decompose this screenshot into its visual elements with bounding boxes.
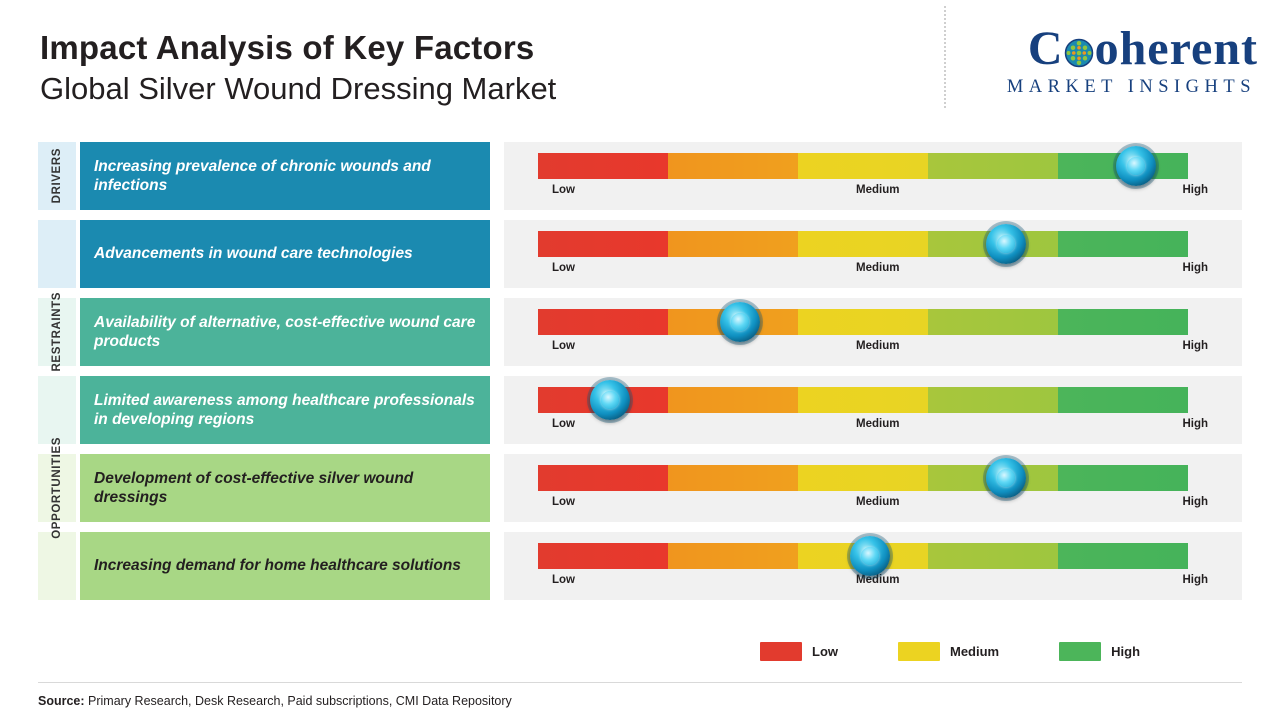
meter-bar <box>538 309 1188 335</box>
impact-meter: Low Medium High <box>504 454 1242 522</box>
scale-label-low: Low <box>552 262 575 274</box>
segment-medium-high <box>928 153 1058 179</box>
segment-low <box>538 231 668 257</box>
segment-low-medium <box>668 543 798 569</box>
scale-label-medium: Medium <box>856 184 899 196</box>
impact-marker[interactable] <box>986 458 1026 498</box>
table-row: OPPORTUNITIES Development of cost-effect… <box>38 454 1242 522</box>
legend-item-medium: Medium <box>898 642 999 661</box>
meter-scale: Low Medium High <box>526 262 1216 278</box>
category-restraints-2 <box>38 376 76 444</box>
logo-tagline: MARKET INSIGHTS <box>1007 77 1258 98</box>
segment-high <box>1058 543 1188 569</box>
legend-swatch-medium <box>898 642 940 661</box>
category-label: OPPORTUNITIES <box>51 437 63 539</box>
logo-name: oherent <box>1095 26 1258 72</box>
impact-marker[interactable] <box>720 302 760 342</box>
segment-low <box>538 153 668 179</box>
segment-high <box>1058 309 1188 335</box>
table-row: Advancements in wound care technologies … <box>38 220 1242 288</box>
segment-high <box>1058 231 1188 257</box>
company-logo: C oherent MARKET INSIG <box>1007 26 1258 98</box>
scale-label-high: High <box>1182 574 1208 586</box>
legend-swatch-low <box>760 642 802 661</box>
slide-root: Impact Analysis of Key Factors Global Si… <box>0 0 1280 720</box>
scale-label-medium: Medium <box>856 418 899 430</box>
impact-meter: Low Medium High <box>504 220 1242 288</box>
scale-label-low: Low <box>552 418 575 430</box>
impact-marker[interactable] <box>850 536 890 576</box>
meter-bar <box>538 387 1188 413</box>
scale-label-high: High <box>1182 340 1208 352</box>
source-label: Source: <box>38 694 85 708</box>
category-label: DRIVERS <box>51 148 63 203</box>
scale-label-medium: Medium <box>856 340 899 352</box>
legend: Low Medium High <box>760 642 1140 661</box>
source-note: Source: Primary Research, Desk Research,… <box>38 694 512 708</box>
scale-label-low: Low <box>552 340 575 352</box>
page-title: Impact Analysis of Key Factors Global Si… <box>40 28 556 108</box>
segment-high <box>1058 465 1188 491</box>
scale-label-high: High <box>1182 496 1208 508</box>
scale-label-high: High <box>1182 418 1208 430</box>
segment-low-medium <box>668 387 798 413</box>
footer-divider <box>38 682 1242 683</box>
legend-item-low: Low <box>760 642 838 661</box>
table-row: Increasing demand for home healthcare so… <box>38 532 1242 600</box>
segment-low <box>538 543 668 569</box>
segment-medium <box>798 231 928 257</box>
impact-rows: DRIVERS Increasing prevalence of chronic… <box>38 142 1242 610</box>
impact-meter: Low Medium High <box>504 376 1242 444</box>
segment-high <box>1058 387 1188 413</box>
title-main: Impact Analysis of Key Factors <box>40 28 556 68</box>
category-opportunities-2 <box>38 532 76 600</box>
legend-item-high: High <box>1059 642 1140 661</box>
scale-label-high: High <box>1182 262 1208 274</box>
category-restraints-1: RESTRAINTS <box>38 298 76 366</box>
factor-cell: Limited awareness among healthcare profe… <box>80 376 490 444</box>
scale-label-low: Low <box>552 496 575 508</box>
meter-bar <box>538 543 1188 569</box>
scale-label-medium: Medium <box>856 496 899 508</box>
factor-cell: Availability of alternative, cost-effect… <box>80 298 490 366</box>
factor-text: Development of cost-effective silver wou… <box>94 469 476 508</box>
category-drivers-2 <box>38 220 76 288</box>
legend-label-low: Low <box>812 644 838 659</box>
factor-text: Increasing prevalence of chronic wounds … <box>94 157 476 196</box>
globe-icon <box>1064 38 1094 68</box>
segment-medium <box>798 465 928 491</box>
factor-cell: Increasing prevalence of chronic wounds … <box>80 142 490 210</box>
segment-medium-high <box>928 387 1058 413</box>
category-opportunities-1: OPPORTUNITIES <box>38 454 76 522</box>
impact-marker[interactable] <box>1116 146 1156 186</box>
legend-swatch-high <box>1059 642 1101 661</box>
meter-scale: Low Medium High <box>526 574 1216 590</box>
segment-medium <box>798 153 928 179</box>
segment-low-medium <box>668 231 798 257</box>
factor-cell: Development of cost-effective silver wou… <box>80 454 490 522</box>
segment-low <box>538 309 668 335</box>
segment-medium-high <box>928 309 1058 335</box>
segment-low-medium <box>668 153 798 179</box>
segment-low <box>538 465 668 491</box>
logo-initial: C <box>1028 26 1063 72</box>
impact-marker[interactable] <box>590 380 630 420</box>
impact-marker[interactable] <box>986 224 1026 264</box>
source-text: Primary Research, Desk Research, Paid su… <box>88 694 512 708</box>
factor-cell: Increasing demand for home healthcare so… <box>80 532 490 600</box>
title-subtitle: Global Silver Wound Dressing Market <box>40 70 556 108</box>
segment-medium <box>798 387 928 413</box>
category-drivers-1: DRIVERS <box>38 142 76 210</box>
impact-meter: Low Medium High <box>504 298 1242 366</box>
scale-label-high: High <box>1182 184 1208 196</box>
logo-wordmark: C oherent <box>1007 26 1258 72</box>
meter-scale: Low Medium High <box>526 340 1216 356</box>
scale-label-medium: Medium <box>856 574 899 586</box>
scale-label-medium: Medium <box>856 262 899 274</box>
table-row: Limited awareness among healthcare profe… <box>38 376 1242 444</box>
factor-text: Advancements in wound care technologies <box>94 244 413 263</box>
scale-label-low: Low <box>552 184 575 196</box>
meter-bar <box>538 465 1188 491</box>
segment-medium-high <box>928 543 1058 569</box>
meter-scale: Low Medium High <box>526 418 1216 434</box>
factor-text: Increasing demand for home healthcare so… <box>94 556 461 575</box>
legend-label-high: High <box>1111 644 1140 659</box>
meter-bar <box>538 231 1188 257</box>
table-row: RESTRAINTS Availability of alternative, … <box>38 298 1242 366</box>
segment-medium <box>798 309 928 335</box>
factor-text: Availability of alternative, cost-effect… <box>94 313 476 352</box>
meter-bar <box>538 153 1188 179</box>
impact-meter: Low Medium High <box>504 142 1242 210</box>
logo-divider <box>944 6 947 108</box>
segment-low-medium <box>668 465 798 491</box>
meter-scale: Low Medium High <box>526 184 1216 200</box>
table-row: DRIVERS Increasing prevalence of chronic… <box>38 142 1242 210</box>
category-label: RESTRAINTS <box>51 292 63 371</box>
scale-label-low: Low <box>552 574 575 586</box>
meter-scale: Low Medium High <box>526 496 1216 512</box>
factor-text: Limited awareness among healthcare profe… <box>94 391 476 430</box>
factor-cell: Advancements in wound care technologies <box>80 220 490 288</box>
impact-meter: Low Medium High <box>504 532 1242 600</box>
legend-label-medium: Medium <box>950 644 999 659</box>
